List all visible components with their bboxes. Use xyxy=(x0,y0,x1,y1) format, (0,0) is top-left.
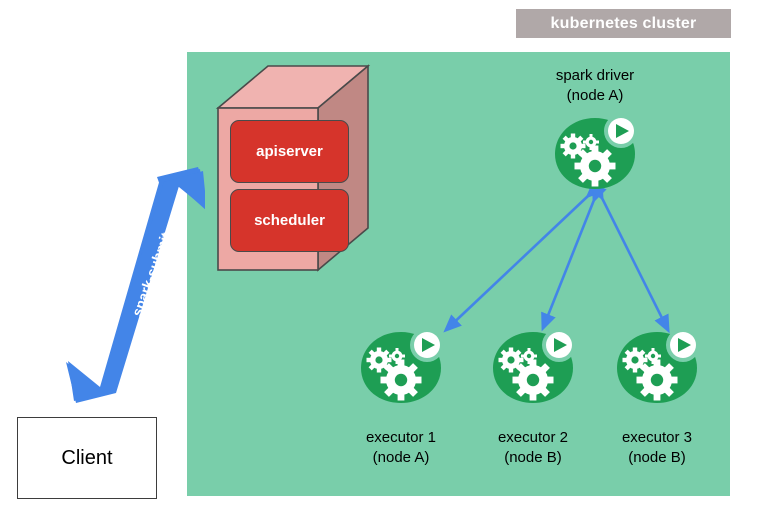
spark-submit-arrow xyxy=(60,165,205,405)
kubernetes-cluster-label: kubernetes cluster xyxy=(516,9,731,38)
executor-1-label: executor 1 (node A) xyxy=(324,428,478,469)
spark-driver-node: (node A) xyxy=(518,86,672,106)
scheduler-component[interactable]: scheduler xyxy=(230,189,349,252)
spark-driver-node-icon[interactable] xyxy=(551,114,639,192)
executor-1-node-icon[interactable] xyxy=(357,328,445,406)
spark-driver-name: spark driver xyxy=(518,66,672,86)
executor-3-node: (node B) xyxy=(580,448,734,468)
executor-1-node: (node A) xyxy=(324,448,478,468)
executor-3-node-icon[interactable] xyxy=(613,328,701,406)
apiserver-component[interactable]: apiserver xyxy=(230,120,349,183)
client-label: Client xyxy=(61,447,112,470)
diagram-canvas: kubernetes cluster spark-submit apiserve… xyxy=(0,0,761,516)
k8s-control-plane-cube: apiserver scheduler xyxy=(200,58,375,283)
executor-1-name: executor 1 xyxy=(324,428,478,448)
spark-driver-label: spark driver (node A) xyxy=(518,66,672,107)
client-box[interactable]: Client xyxy=(17,417,157,499)
executor-3-label: executor 3 (node B) xyxy=(580,428,734,469)
executor-2-node-icon[interactable] xyxy=(489,328,577,406)
executor-3-name: executor 3 xyxy=(580,428,734,448)
